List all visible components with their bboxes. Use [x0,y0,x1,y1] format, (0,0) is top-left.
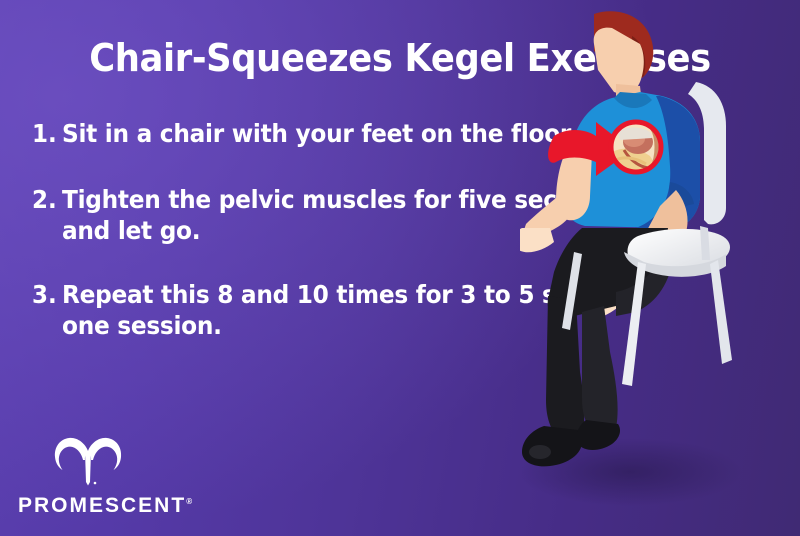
illustration [520,0,800,536]
step-number: 2. [32,184,60,216]
brand-logo: PROMESCENT® [18,436,208,518]
logo-wordmark-text: PROMESCENT [18,494,186,517]
infographic-canvas: Chair-Squeezes Kegel Exercises 1. Sit in… [0,0,800,536]
shin-back [582,306,618,434]
ram-horns-logo-mark [50,436,126,488]
head [594,11,654,106]
logo-wordmark: PROMESCENT® [18,494,208,518]
trademark-symbol: ® [186,497,192,506]
step-number: 3. [32,279,60,311]
seated-man-illustration [520,0,800,536]
step-number: 1. [32,118,60,150]
shoe-front-toe [529,445,551,459]
hand [520,228,554,252]
pelvic-anatomy-inset [609,120,663,174]
chair-leg-front-right [710,260,732,364]
